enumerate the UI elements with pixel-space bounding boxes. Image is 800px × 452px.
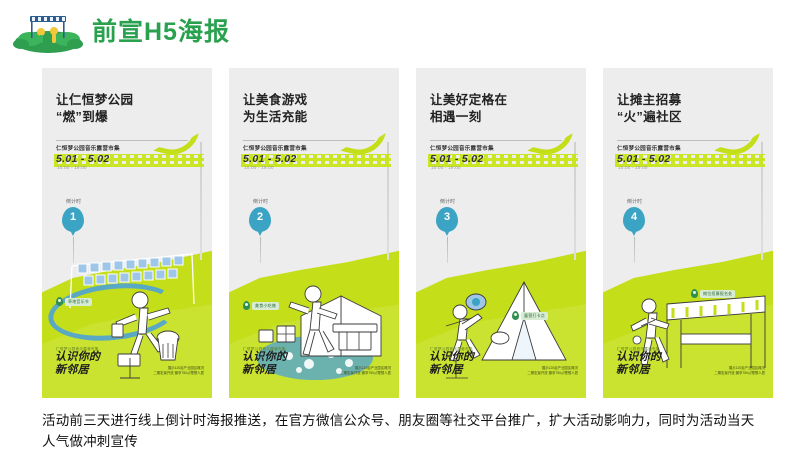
balloon-string — [634, 237, 635, 263]
poster-slogan: 认识你的 新邻居 — [55, 351, 100, 376]
countdown-number: 2 — [249, 211, 271, 223]
divider-rule — [430, 140, 562, 141]
poster-card-4[interactable]: 让摊主招募 “火”遍社区 仁恒梦公园音乐露营市集 5.01 - 5.02 10:… — [603, 68, 773, 398]
poster-card-1[interactable]: 让仁恒梦公园 “燃”到爆 仁恒梦公园音乐露营市集 5.01 - 5.02 10:… — [42, 68, 212, 398]
location-pin-label: 摊位招募报名处 — [700, 290, 735, 298]
poster-subtitle: 仁恒梦公园音乐露营市集 — [617, 144, 681, 152]
location-pin-2: 美食小吃摊 — [243, 301, 279, 310]
countdown-balloon: 3 — [436, 207, 458, 232]
poster-heading-3: 让美好定格在 相遇一刻 — [430, 92, 576, 126]
location-pin-3: 露营打卡点 — [512, 311, 548, 320]
countdown-balloon: 1 — [62, 207, 84, 232]
slide-header: 前宣H5海报 — [0, 0, 800, 62]
balloon-string — [73, 237, 74, 263]
poster-time: 10:00 - 19:00 — [57, 165, 87, 170]
countdown-label: 倒计时 — [440, 198, 455, 205]
location-pin-label: 美食小吃摊 — [252, 302, 279, 310]
poster-subtitle: 仁恒梦公园音乐露营市集 — [243, 144, 307, 152]
countdown-number: 4 — [623, 211, 645, 223]
poster-date: 5.01 - 5.02 — [243, 153, 297, 165]
poster-title: 让美食游戏 为生活充能 — [243, 92, 389, 126]
poster-title: 让仁恒梦公园 “燃”到爆 — [56, 92, 202, 126]
location-pin-label: 草地音乐节 — [65, 298, 92, 306]
page-title: 前宣H5海报 — [92, 16, 230, 48]
location-pin-icon — [56, 297, 63, 306]
balloon-string — [447, 237, 448, 263]
location-pin-icon — [243, 301, 250, 310]
poster-slogan: 认识你的 新邻居 — [242, 351, 287, 376]
countdown-number: 3 — [436, 211, 458, 223]
divider-rule — [617, 140, 749, 141]
countdown-label: 倒计时 — [66, 198, 81, 205]
poster-subtitle: 仁恒梦公园音乐露营市集 — [56, 144, 120, 152]
poster-slogan: 认识你的 新邻居 — [429, 351, 474, 376]
poster-fineprint: 展示120亩产业园区概况 二期宏景开放 臻享750㎡理想人居 — [153, 366, 204, 376]
poster-card-3[interactable]: 让美好定格在 相遇一刻 仁恒梦公园音乐露营市集 5.01 - 5.02 10:0… — [416, 68, 586, 398]
poster-heading-1: 让仁恒梦公园 “燃”到爆 — [56, 92, 202, 126]
countdown-balloon: 2 — [249, 207, 271, 232]
location-pin-icon — [512, 311, 519, 320]
location-pin-4: 摊位招募报名处 — [691, 289, 735, 298]
location-pin-1: 草地音乐节 — [56, 297, 92, 306]
poster-heading-4: 让摊主招募 “火”遍社区 — [617, 92, 763, 126]
poster-date: 5.01 - 5.02 — [430, 153, 484, 165]
countdown-label: 倒计时 — [627, 198, 642, 205]
market-stall-illustration-logo — [12, 8, 84, 54]
poster-slogan: 认识你的 新邻居 — [616, 351, 661, 376]
location-pin-label: 露营打卡点 — [521, 312, 548, 320]
poster-date: 5.01 - 5.02 — [617, 153, 671, 165]
poster-subtitle: 仁恒梦公园音乐露营市集 — [430, 144, 494, 152]
slide-caption: 活动前三天进行线上倒计时海报推送，在官方微信公众号、朋友圈等社交平台推广，扩大活… — [42, 410, 758, 452]
poster-title: 让摊主招募 “火”遍社区 — [617, 92, 763, 126]
poster-fineprint: 展示120亩产业园区概况 二期宏景开放 臻享750㎡理想人居 — [714, 366, 765, 376]
divider-rule — [56, 140, 188, 141]
divider-rule — [243, 140, 375, 141]
poster-date: 5.01 - 5.02 — [56, 153, 110, 165]
countdown-label: 倒计时 — [253, 198, 268, 205]
slide-root: 前宣H5海报 — [0, 0, 800, 450]
poster-time: 10:00 - 19:00 — [618, 165, 648, 170]
poster-card-2[interactable]: 让美食游戏 为生活充能 仁恒梦公园音乐露营市集 5.01 - 5.02 10:0… — [229, 68, 399, 398]
poster-heading-2: 让美食游戏 为生活充能 — [243, 92, 389, 126]
balloon-string — [260, 237, 261, 263]
poster-time: 10:00 - 19:00 — [431, 165, 461, 170]
poster-fineprint: 展示120亩产业园区概况 二期宏景开放 臻享750㎡理想人居 — [527, 366, 578, 376]
poster-gallery: 让仁恒梦公园 “燃”到爆 仁恒梦公园音乐露营市集 5.01 - 5.02 10:… — [0, 68, 800, 398]
location-pin-icon — [691, 289, 698, 298]
poster-title: 让美好定格在 相遇一刻 — [430, 92, 576, 126]
poster-time: 10:00 - 19:00 — [244, 165, 274, 170]
poster-fineprint: 展示120亩产业园区概况 二期宏景开放 臻享750㎡理想人居 — [340, 366, 391, 376]
countdown-number: 1 — [62, 211, 84, 223]
countdown-balloon: 4 — [623, 207, 645, 232]
